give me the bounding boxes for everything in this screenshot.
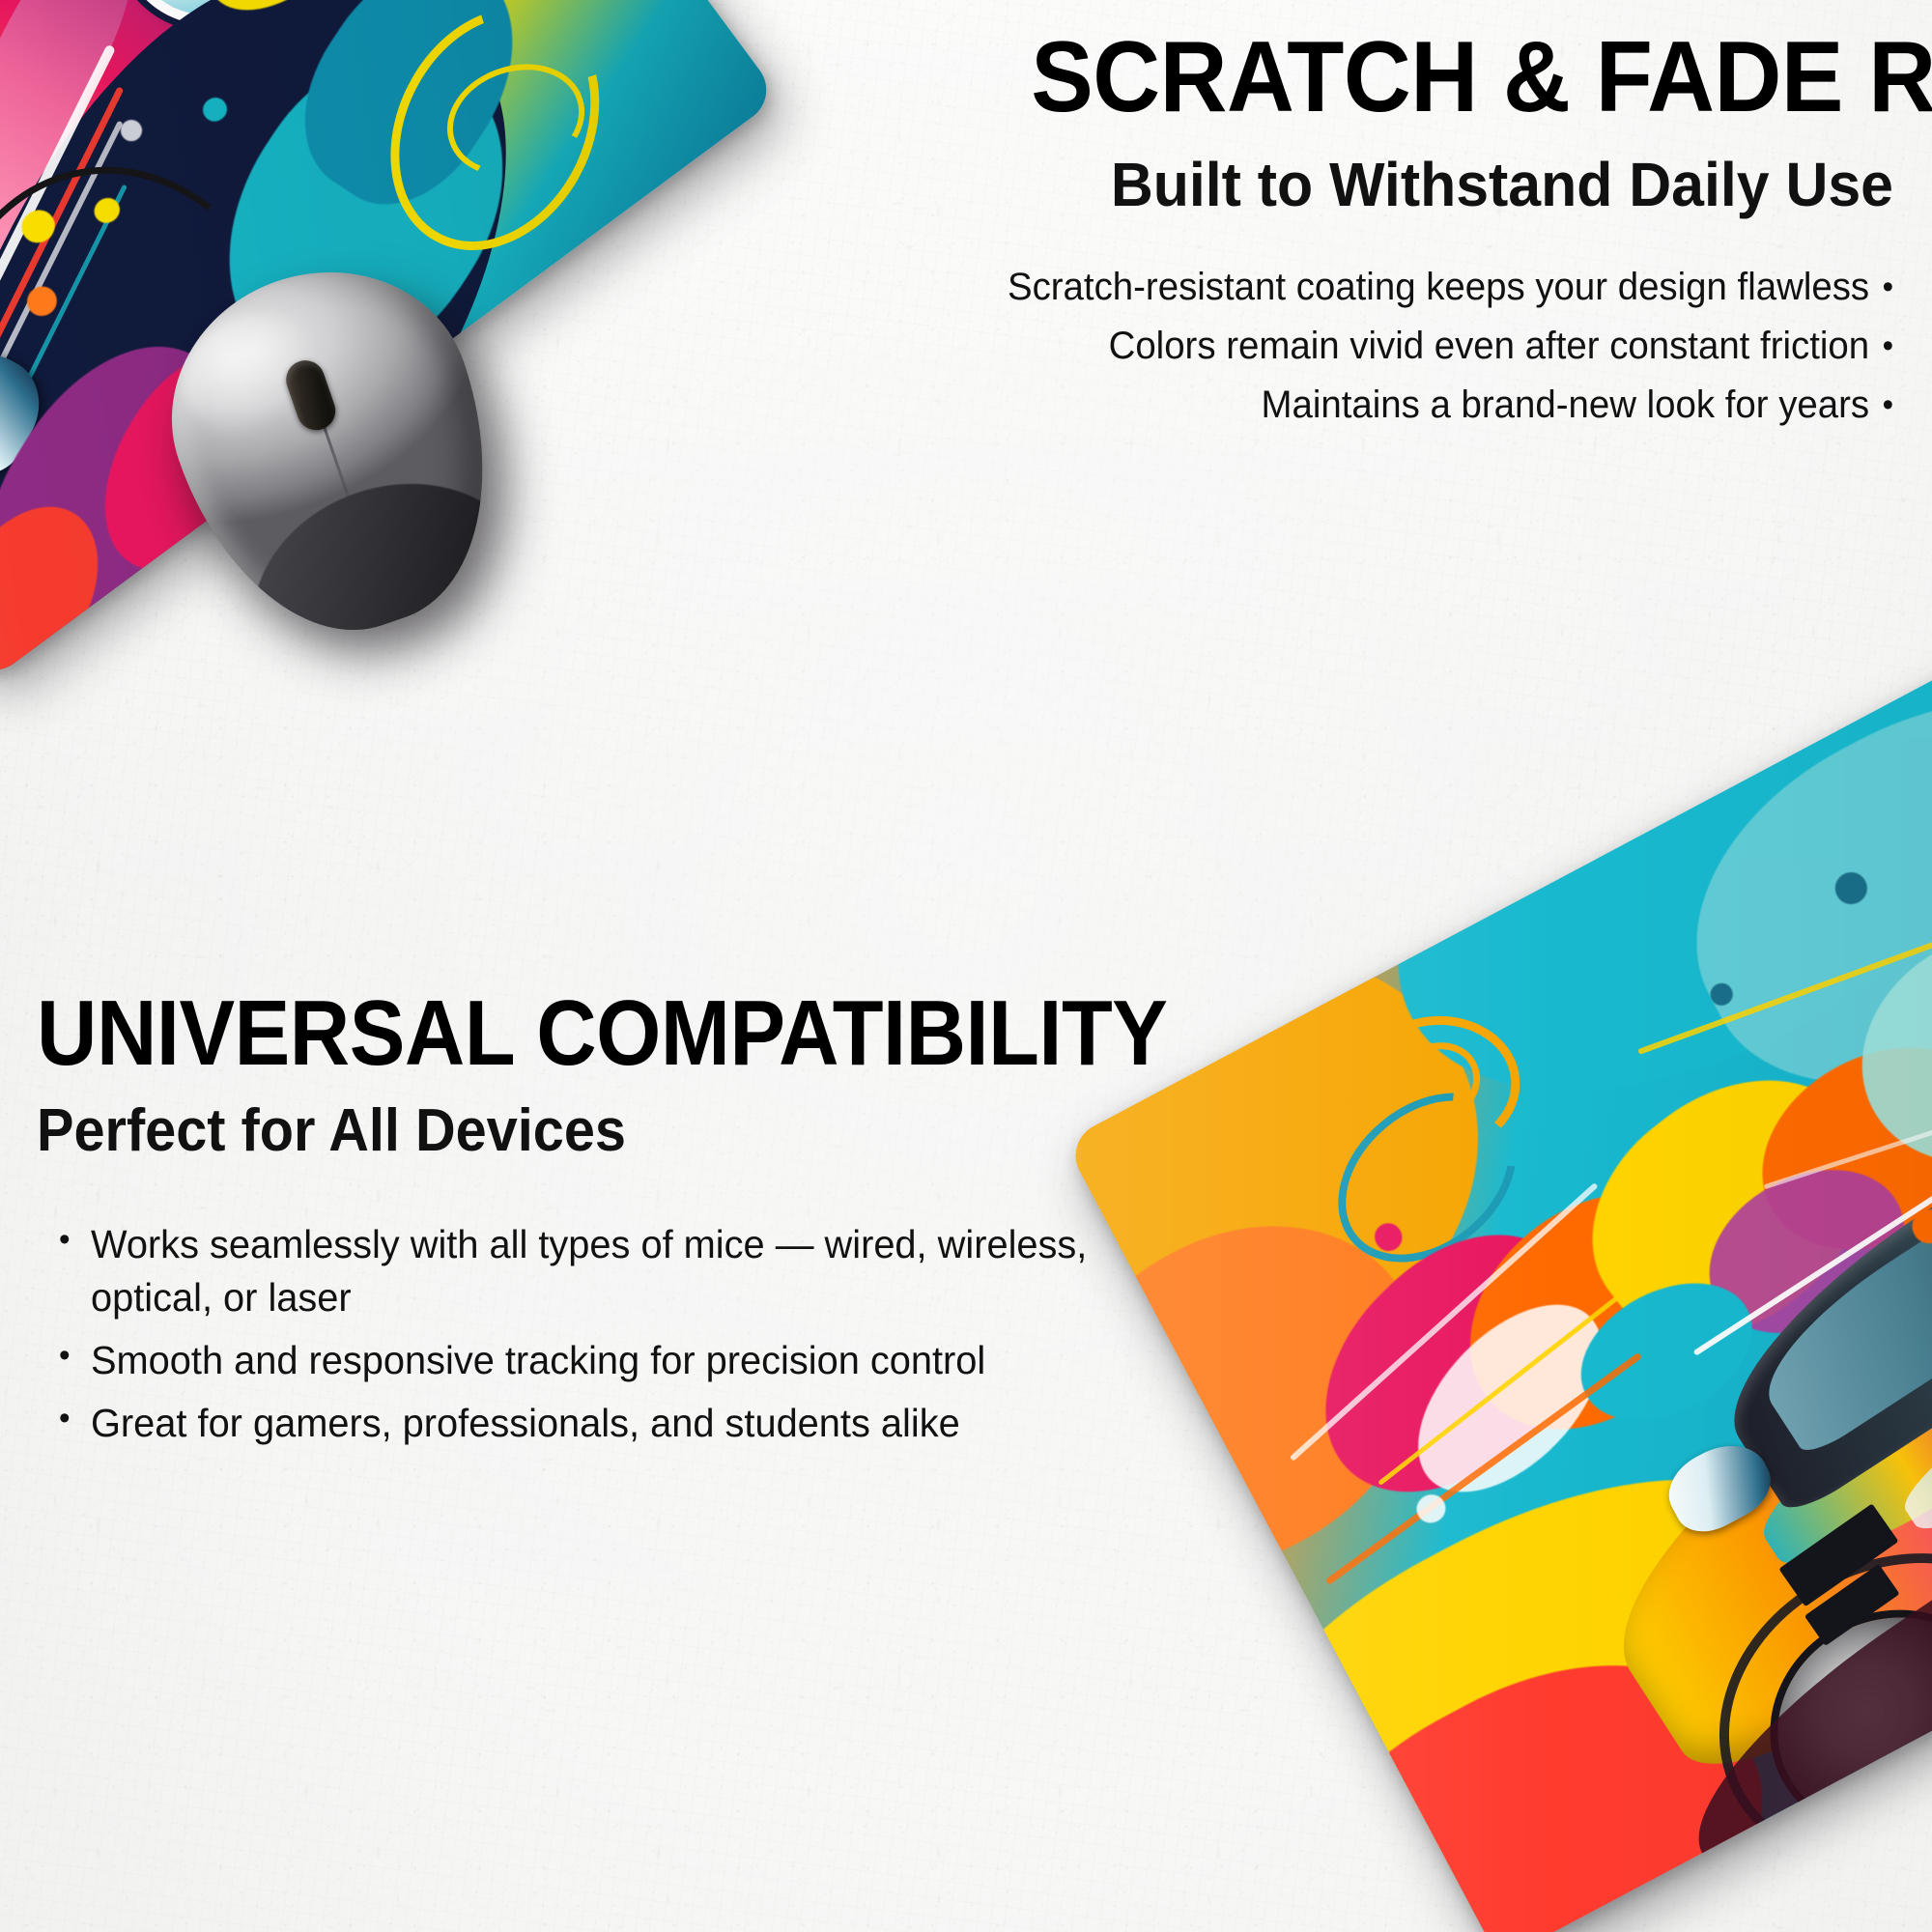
feature-list-bottom: •Works seamlessly with all types of mice… bbox=[37, 1218, 1173, 1450]
bullet-dot-icon: • bbox=[59, 1218, 71, 1263]
feature-block-scratch-fade: SCRATCH & FADE RESISTANT Built to Withst… bbox=[966, 27, 1893, 450]
list-item: Scratch-resistant coating keeps your des… bbox=[1003, 258, 1893, 317]
section-subtitle: Built to Withstand Daily Use bbox=[1012, 153, 1893, 217]
page-title: SCRATCH & FADE RESISTANT bbox=[1031, 27, 1893, 128]
bullet-dot-icon: • bbox=[59, 1397, 71, 1441]
list-item: •Smooth and responsive tracking for prec… bbox=[91, 1334, 1140, 1387]
bullet-dot-icon: • bbox=[1883, 327, 1893, 364]
list-item: •Works seamlessly with all types of mice… bbox=[91, 1218, 1140, 1324]
bullet-dot-icon: • bbox=[59, 1334, 71, 1378]
feature-list-top: Scratch-resistant coating keeps your des… bbox=[966, 258, 1893, 434]
section-title: UNIVERSAL COMPATIBILITY bbox=[37, 987, 1045, 1080]
feature-block-universal-compatibility: UNIVERSAL COMPATIBILITY Perfect for All … bbox=[37, 987, 1157, 1460]
section-subtitle: Perfect for All Devices bbox=[37, 1099, 1079, 1162]
list-item: •Great for gamers, professionals, and st… bbox=[91, 1397, 1140, 1450]
mouse-scroll-wheel bbox=[281, 355, 341, 436]
product-infographic: SCRATCH & FADE RESISTANT Built to Withst… bbox=[0, 0, 1932, 1932]
list-item: Maintains a brand-new look for years• bbox=[1003, 376, 1893, 435]
bullet-dot-icon: • bbox=[1883, 386, 1893, 423]
list-item: Colors remain vivid even after constant … bbox=[1003, 317, 1893, 376]
bullet-dot-icon: • bbox=[1883, 269, 1893, 305]
